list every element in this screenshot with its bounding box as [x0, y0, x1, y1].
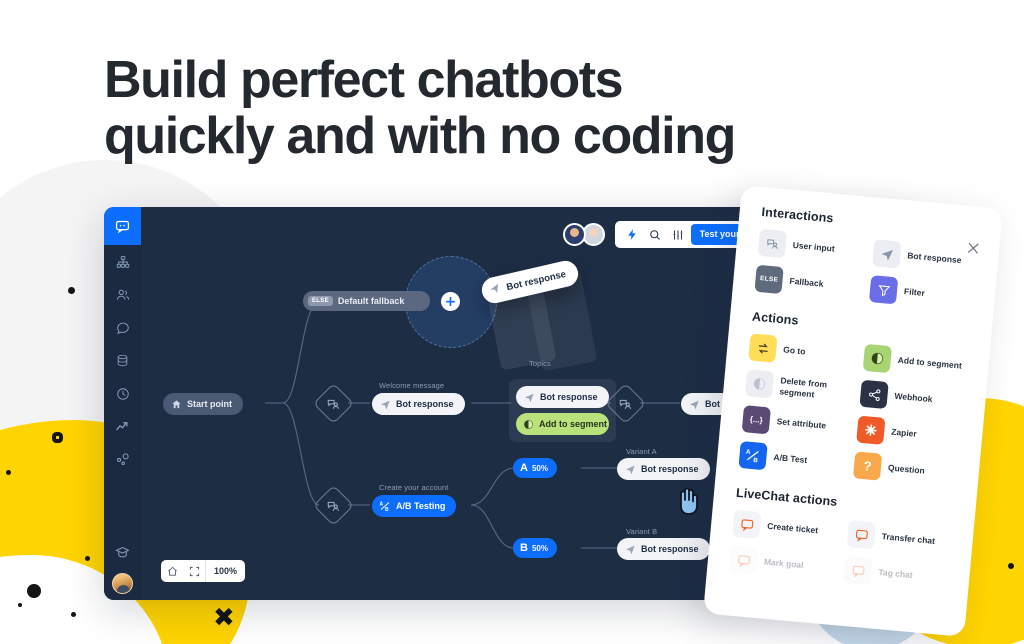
node-label-variant-a: Variant A — [626, 447, 657, 456]
graduation-cap-icon — [115, 545, 130, 560]
panel-item-add-to-segment[interactable]: Add to segment — [863, 344, 974, 381]
decor-small-ring — [52, 432, 63, 443]
node-label: A/B Testing — [396, 501, 445, 511]
database-icon — [116, 354, 129, 367]
panel-item-label: Filter — [904, 286, 926, 298]
panel-item-label: Add to segment — [897, 355, 962, 371]
panel-item-question[interactable]: ? Question — [853, 451, 964, 488]
panel-group-interactions: User input Bot response ELSE Fallback Fi… — [754, 229, 983, 312]
zoom-controls: 100% — [161, 560, 245, 582]
page-root: ✖ Build perfect chatbots quickly and wit… — [0, 0, 1024, 644]
sidebar-item-chatbot[interactable] — [104, 207, 141, 245]
home-icon[interactable] — [161, 560, 183, 582]
sidebar-item-learning[interactable] — [104, 536, 141, 569]
org-chart-icon — [116, 255, 130, 269]
zapier-asterisk-icon — [856, 416, 885, 445]
node-bot-response-variant-b[interactable]: Bot response — [617, 538, 710, 560]
panel-item-webhook[interactable]: Webhook — [859, 380, 970, 417]
segment-add-icon — [863, 344, 892, 373]
panel-item-set-attribute[interactable]: {...} Set attribute — [742, 405, 853, 442]
sidebar-item-users[interactable] — [104, 278, 141, 311]
speech-bubble-icon — [116, 321, 130, 335]
fit-screen-icon[interactable] — [183, 560, 205, 582]
panel-item-tag-chat[interactable]: Tag chat — [843, 556, 954, 593]
branch-letter: B — [520, 542, 528, 554]
interactions-panel: Interactions User input Bot response — [703, 185, 1003, 637]
ab-branch-b[interactable]: B 50% — [513, 538, 557, 558]
panel-item-ab-test[interactable]: A B A/B Test — [738, 441, 849, 478]
user-input-icon — [758, 229, 787, 258]
decor-dot — [1008, 563, 1014, 569]
panel-item-label: Delete from segment — [779, 375, 856, 403]
zoom-level[interactable]: 100% — [205, 560, 245, 582]
panel-group-livechat-actions: LiveChat actions Create ticket Transfer … — [729, 486, 960, 593]
sidebar-item-flows[interactable] — [104, 245, 141, 278]
node-label: Bot response — [641, 544, 699, 554]
node-group-topics[interactable]: Bot response Add to segment — [509, 379, 616, 442]
node-bot-response-variant-a[interactable]: Bot response — [617, 458, 710, 480]
else-badge-icon: ELSE — [754, 265, 783, 294]
panel-item-label: A/B Test — [773, 452, 808, 466]
node-label-topics: Topics — [529, 359, 551, 368]
paper-plane-icon — [688, 398, 700, 410]
decor-dot — [71, 612, 76, 617]
node-default-fallback[interactable]: ELSE Default fallback — [303, 291, 430, 311]
decor-x-mark: ✖ — [213, 608, 235, 630]
node-label: Bot response — [641, 464, 699, 474]
avatar[interactable] — [563, 223, 586, 246]
paper-plane-icon — [523, 391, 535, 403]
close-icon[interactable] — [965, 240, 982, 257]
node-add-to-segment[interactable]: Add to segment — [516, 413, 609, 435]
chat-bubble-icon — [115, 219, 130, 234]
user-input-icon — [327, 499, 341, 513]
node-bot-response[interactable]: Bot response — [516, 386, 609, 408]
app-sidebar — [104, 207, 141, 600]
paper-plane-icon — [488, 282, 502, 298]
decor-dot — [85, 556, 90, 561]
ab-split-icon: A B — [738, 441, 767, 470]
sidebar-item-integrations[interactable] — [104, 443, 141, 476]
users-icon — [116, 288, 130, 302]
sliders-icon[interactable] — [668, 224, 689, 245]
branch-percent: 50% — [532, 544, 548, 553]
panel-item-label: Bot response — [907, 250, 962, 266]
panel-item-delete-from-segment[interactable]: Delete from segment — [745, 369, 856, 406]
panel-item-label: Tag chat — [878, 567, 913, 581]
livechat-goal-icon — [729, 546, 758, 575]
decor-dot — [27, 584, 41, 598]
node-label-welcome-message: Welcome message — [379, 381, 444, 390]
node-label: Add to segment — [539, 419, 607, 429]
decor-dot — [18, 603, 22, 607]
panel-item-user-input[interactable]: User input — [758, 229, 869, 266]
svg-text:A: A — [380, 502, 384, 508]
arrows-swap-icon — [748, 333, 777, 362]
livechat-transfer-icon — [847, 520, 876, 549]
livechat-tag-icon — [843, 556, 872, 585]
sidebar-item-data[interactable] — [104, 344, 141, 377]
share-nodes-icon — [859, 380, 888, 409]
svg-text:A: A — [746, 449, 752, 456]
trend-line-icon — [115, 419, 130, 434]
panel-item-create-ticket[interactable]: Create ticket — [732, 510, 843, 547]
node-label-create-account: Create your account — [379, 483, 448, 492]
panel-item-fallback[interactable]: ELSE Fallback — [754, 265, 865, 302]
node-label: Bot response — [396, 399, 454, 409]
paper-plane-icon — [624, 543, 636, 555]
panel-group-actions: Actions Go to Add to segment — [738, 309, 975, 488]
ab-split-icon: A B — [379, 500, 391, 512]
sidebar-item-history[interactable] — [104, 377, 141, 410]
question-mark-icon: ? — [853, 451, 882, 480]
user-input-icon — [327, 397, 341, 411]
paper-plane-icon — [379, 398, 391, 410]
panel-item-transfer-chat[interactable]: Transfer chat — [847, 520, 958, 557]
node-ab-testing[interactable]: A B A/B Testing — [372, 495, 456, 517]
paper-plane-icon — [872, 239, 901, 268]
headline-line-2: quickly and with no coding — [104, 107, 735, 165]
node-label: Bot response — [540, 392, 598, 402]
lightning-icon[interactable] — [622, 224, 643, 245]
node-start-point[interactable]: Start point — [163, 393, 243, 415]
sidebar-bottom-group — [104, 536, 141, 594]
paper-plane-icon — [624, 463, 636, 475]
braces-icon: {...} — [742, 405, 771, 434]
panel-item-label: Set attribute — [776, 416, 826, 431]
sidebar-item-analytics[interactable] — [104, 410, 141, 443]
panel-item-go-to[interactable]: Go to — [748, 333, 859, 370]
panel-item-zapier[interactable]: Zapier — [856, 416, 967, 453]
panel-item-label: Mark goal — [763, 557, 803, 571]
panel-item-mark-goal[interactable]: Mark goal — [729, 546, 840, 583]
branch-letter: A — [520, 462, 528, 474]
node-bot-response[interactable]: Bot response — [372, 393, 465, 415]
clock-icon — [116, 387, 130, 401]
else-badge: ELSE — [308, 296, 333, 306]
panel-item-label: Go to — [783, 345, 806, 358]
user-input-icon — [619, 397, 633, 411]
branch-percent: 50% — [532, 464, 548, 473]
search-icon[interactable] — [645, 224, 666, 245]
ab-branch-a[interactable]: A 50% — [513, 458, 557, 478]
panel-item-label: Create ticket — [767, 521, 819, 536]
svg-text:B: B — [753, 457, 759, 464]
page-title: Build perfect chatbots quickly and with … — [104, 52, 864, 164]
livechat-ticket-icon — [732, 510, 761, 539]
sidebar-item-chats[interactable] — [104, 311, 141, 344]
svg-text:B: B — [385, 507, 389, 512]
decor-dot — [68, 287, 75, 294]
add-node-button[interactable]: + — [441, 292, 460, 311]
node-label: Default fallback — [338, 296, 405, 306]
decor-dot — [6, 470, 11, 475]
node-label: Start point — [187, 399, 232, 409]
nodes-icon — [115, 452, 130, 467]
panel-item-label: Transfer chat — [881, 531, 935, 546]
panel-item-label: User input — [792, 240, 835, 254]
segment-delete-icon — [745, 369, 774, 398]
hand-cursor — [675, 485, 701, 520]
panel-item-filter[interactable]: Filter — [869, 275, 980, 312]
funnel-icon — [869, 275, 898, 304]
headline-line-1: Build perfect chatbots — [104, 51, 622, 109]
panel-item-label: Webhook — [894, 391, 933, 405]
avatar[interactable] — [112, 573, 133, 594]
panel-item-label: Fallback — [789, 276, 824, 290]
panel-item-label: Zapier — [891, 427, 917, 440]
panel-item-label: Question — [888, 463, 926, 477]
node-label-variant-b: Variant B — [626, 527, 657, 536]
home-icon — [170, 398, 182, 410]
segment-add-icon — [523, 418, 534, 430]
